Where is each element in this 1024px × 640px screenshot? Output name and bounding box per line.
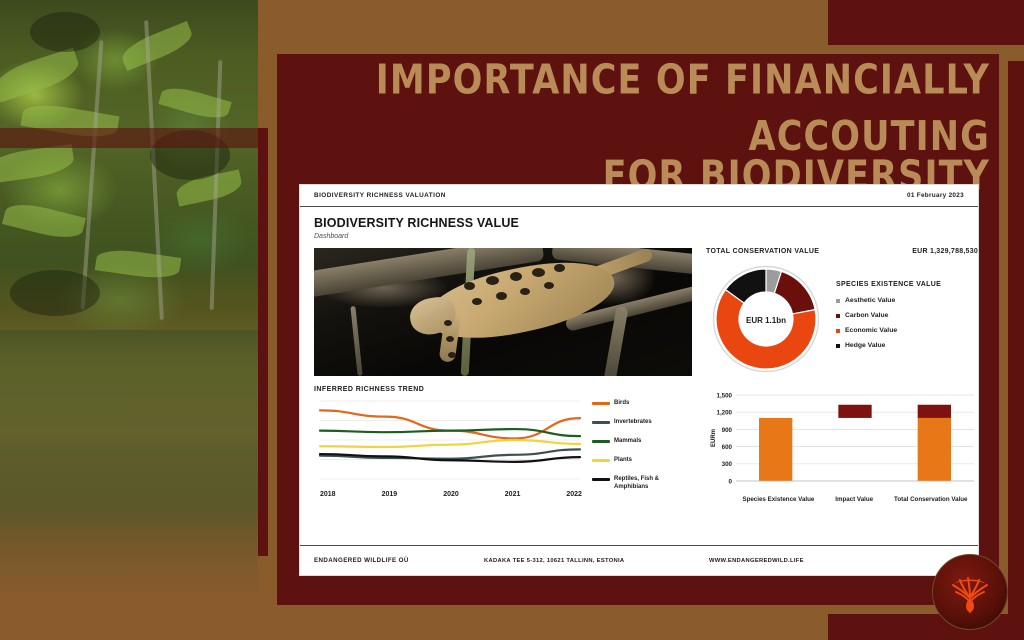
dashboard-body: INFERRED RICHNESS TREND 2018201920202021… (300, 240, 978, 503)
trend-line-svg (314, 395, 586, 487)
species-legend-item: Aesthetic Value (836, 297, 941, 304)
legend-swatch (592, 459, 610, 462)
trend-legend-item: Mammals (592, 437, 686, 445)
legend-swatch (592, 478, 610, 481)
donut-svg (706, 261, 826, 379)
coat-spot (486, 276, 499, 285)
species-legend-item: Carbon Value (836, 312, 941, 319)
legend-label: Plants (614, 456, 632, 464)
footer-address: KADAKA TEE 5-312, 10621 TALLINN, ESTONIA (484, 558, 709, 564)
waterfall-bar (838, 405, 871, 418)
species-legend-item: Hedge Value (836, 342, 941, 349)
waterfall-x-tick: Species Existence Value (742, 496, 814, 503)
branch (350, 306, 362, 376)
dashboard-heading: BIODIVERSITY RICHNESS VALUE Dashboard (300, 207, 978, 240)
legend-swatch (836, 299, 840, 303)
waterfall-x-tick: Impact Value (835, 496, 873, 503)
coat-spot (532, 268, 545, 277)
trend-x-axis: 20182019202020212022 (314, 489, 586, 498)
jungle-photo (0, 0, 258, 592)
species-existence-title: SPECIES EXISTENCE VALUE (836, 281, 941, 288)
legend-label: Reptiles, Fish & Amphibians (614, 475, 686, 491)
coat-spot (520, 288, 530, 295)
coat-spot (464, 282, 475, 290)
trend-legend: BirdsInvertebratesMammalsPlantsReptiles,… (586, 395, 686, 502)
waterfall-x-tick: Total Conservation Value (894, 496, 967, 503)
dashboard-footer: ENDANGERED WILDLIFE OÜ KADAKA TEE 5-312,… (300, 545, 978, 575)
total-conservation-label: TOTAL CONSERVATION VALUE (706, 248, 819, 255)
footer-website: WWW.ENDANGEREDWILD.LIFE (709, 558, 960, 564)
species-existence-legend: SPECIES EXISTENCE VALUE Aesthetic ValueC… (826, 261, 941, 379)
waterfall-bar-stack (918, 405, 951, 418)
slide-canvas: IMPORTANCE OF FINANCIALLY ACCOUTING FOR … (0, 0, 1024, 640)
waterfall-x-axis: Species Existence ValueImpact ValueTotal… (706, 496, 978, 503)
waterfall-y-label: EURm (711, 429, 717, 447)
legend-swatch (836, 344, 840, 348)
dashboard-title: BIODIVERSITY RICHNESS VALUE (314, 216, 964, 230)
legend-swatch (592, 440, 610, 443)
coat-spot (448, 352, 456, 358)
coat-spot (554, 264, 565, 272)
legend-label: Birds (614, 399, 629, 407)
waterfall-y-tick: 600 (722, 444, 733, 451)
waterfall-y-tick: 0 (729, 478, 733, 485)
canopy-shadow (30, 12, 100, 52)
dashboard-date: 01 February 2023 (907, 192, 964, 199)
trend-x-tick: 2021 (505, 491, 521, 498)
trend-x-tick: 2019 (382, 491, 398, 498)
dashboard-topbar: BIODIVERSITY RICHNESS VALUATION 01 Febru… (300, 185, 978, 207)
palm-frond (2, 199, 86, 244)
species-legend-item: Economic Value (836, 327, 941, 334)
legend-label: Hedge Value (845, 342, 885, 349)
legend-swatch (836, 329, 840, 333)
waterfall-y-tick: 1,200 (717, 410, 733, 417)
trend-line-chart: 20182019202020212022 (314, 395, 586, 502)
trend-legend-item: Reptiles, Fish & Amphibians (592, 475, 686, 491)
donut-chart: EUR 1.1bn (706, 261, 826, 379)
legend-label: Economic Value (845, 327, 897, 334)
ocelot-photo (314, 248, 692, 376)
coat-spot (510, 272, 522, 281)
tree-emblem-icon (944, 566, 996, 618)
palm-frond (118, 21, 196, 71)
legend-swatch (592, 402, 610, 405)
palm-frond (0, 144, 76, 184)
trend-x-tick: 2020 (443, 491, 459, 498)
waterfall-y-tick: 300 (722, 461, 733, 468)
coat-spot (472, 298, 482, 305)
waterfall-bar (918, 418, 951, 481)
dashboard-subtitle: Dashboard (314, 233, 964, 240)
trend-x-tick: 2018 (320, 491, 336, 498)
dashboard-right-column: TOTAL CONSERVATION VALUE EUR 1,329,788,5… (706, 248, 978, 503)
donut-area: EUR 1.1bn SPECIES EXISTENCE VALUE Aesthe… (706, 261, 978, 379)
jungle-maroon-overlay (0, 128, 258, 148)
trend-legend-item: Plants (592, 456, 686, 464)
canopy-shadow (10, 270, 100, 316)
coat-spot (544, 282, 554, 289)
palm-frond (95, 246, 182, 281)
trend-legend-item: Invertebrates (592, 418, 686, 426)
footer-brand: ENDANGERED WILDLIFE OÜ (314, 557, 484, 564)
legend-label: Invertebrates (614, 418, 652, 426)
legend-label: Mammals (614, 437, 641, 445)
total-conservation-row: TOTAL CONSERVATION VALUE EUR 1,329,788,5… (706, 248, 978, 255)
legend-swatch (592, 421, 610, 424)
waterfall-bar (759, 418, 792, 481)
legend-swatch (836, 314, 840, 318)
dashboard-left-column: INFERRED RICHNESS TREND 2018201920202021… (314, 248, 692, 503)
waterfall-svg: 03006009001,2001,500EURm (706, 389, 978, 493)
coat-spot (444, 320, 452, 326)
total-conservation-value: EUR 1,329,788,530 (912, 248, 978, 255)
legend-label: Carbon Value (845, 312, 888, 319)
trend-x-tick: 2022 (566, 491, 582, 498)
legend-label: Aesthetic Value (845, 297, 895, 304)
company-logo (932, 554, 1008, 630)
dashboard-card: BIODIVERSITY RICHNESS VALUATION 01 Febru… (300, 185, 978, 575)
waterfall-chart: 03006009001,2001,500EURm Species Existen… (706, 389, 978, 503)
dashboard-kicker: BIODIVERSITY RICHNESS VALUATION (314, 192, 446, 199)
coat-spot (446, 336, 454, 342)
trend-legend-item: Birds (592, 399, 686, 407)
trend-chart-title: INFERRED RICHNESS TREND (314, 386, 692, 393)
coat-spot (496, 292, 507, 300)
waterfall-y-tick: 1,500 (717, 392, 733, 399)
slide-title: IMPORTANCE OF FINANCIALLY ACCOUTING FOR … (300, 52, 990, 196)
trend-chart-area: 20182019202020212022 BirdsInvertebratesM… (314, 395, 692, 502)
palm-frond (0, 47, 83, 102)
waterfall-y-tick: 900 (722, 427, 733, 434)
jungle-bottom-fade (0, 505, 258, 640)
